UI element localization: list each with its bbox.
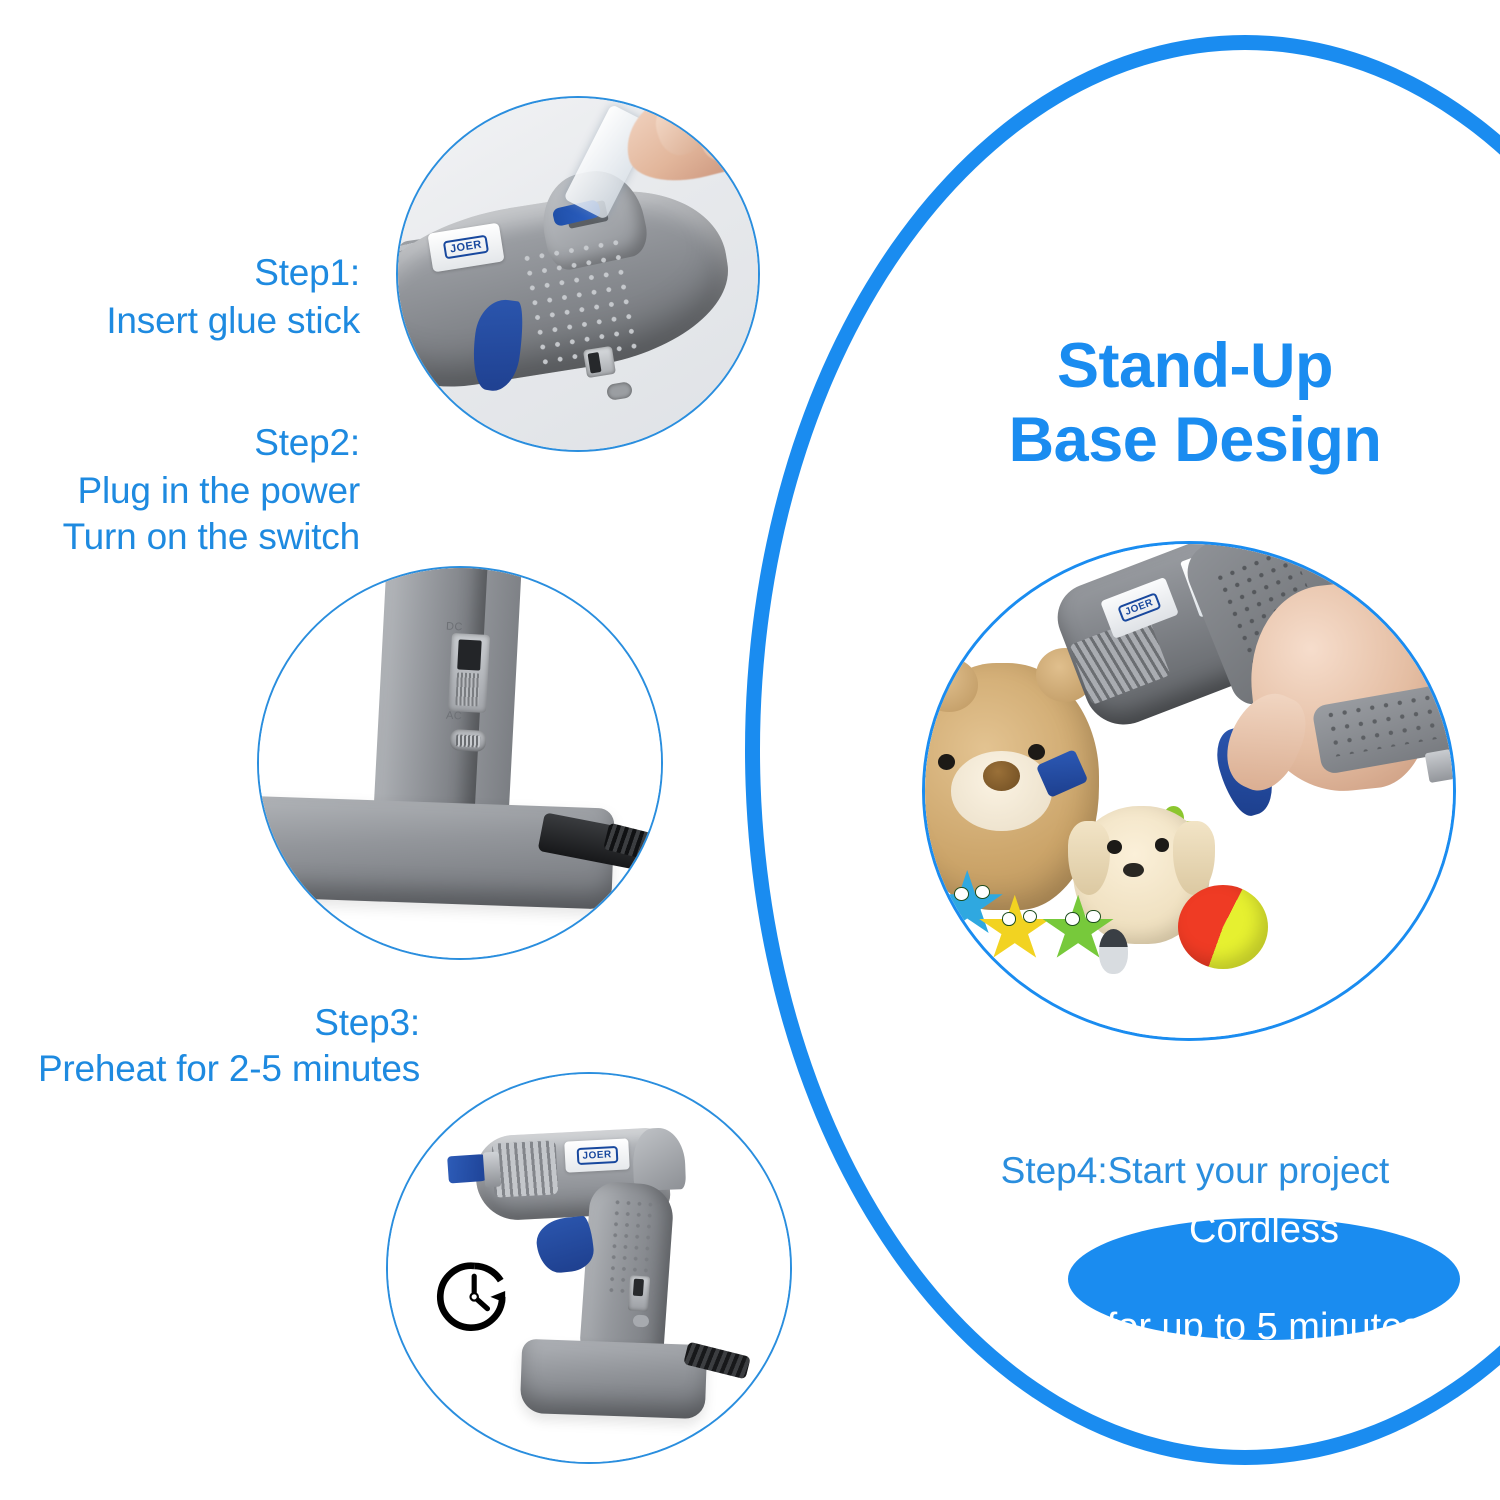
preheat-photo: JOER [386,1072,792,1464]
badge-line2: for up to 5 minutes [1107,1303,1422,1352]
infographic-canvas: Step1: Insert glue stick JOER Step2: Plu… [0,0,1500,1500]
step2-title: Step2: [60,420,360,467]
charging-port [449,729,486,752]
joer-logo-text: JOER [443,235,489,260]
step2-description-line2: Turn on the switch [20,514,360,561]
power-switch-glyph [1424,749,1455,783]
step2-description-line1: Plug in the power [20,468,360,515]
ac-label: AC [446,710,463,723]
step3-title: Step3: [60,1000,420,1047]
page-title-line1: Stand-Up [930,330,1460,404]
status-badge: Cordless for up to 5 minutes [1068,1218,1460,1340]
insert-glue-stick-photo: JOER [396,96,760,452]
penguin-figurine-toy [1099,929,1128,973]
power-switch-glyph [628,1275,650,1311]
power-switch-glyph [583,346,616,378]
page-title-line2: Base Design [930,404,1460,478]
joer-logo-text: JOER [1117,593,1162,624]
step1-title: Step1: [60,250,360,297]
clock-timer-icon [436,1260,512,1334]
dc-ac-slide-switch[interactable] [448,633,490,713]
ball-toy [1178,885,1268,969]
step3-description: Preheat for 2-5 minutes [10,1046,420,1093]
joer-logo-text: JOER [576,1146,618,1165]
power-switch-photo: DC AC [257,566,663,960]
step1-description: Insert glue stick [40,298,360,345]
badge-line1: Cordless [1107,1206,1422,1255]
dc-label: DC [446,621,463,634]
project-toys-photo: JOER [922,541,1456,1041]
brand-logo-label: JOER [564,1138,630,1172]
